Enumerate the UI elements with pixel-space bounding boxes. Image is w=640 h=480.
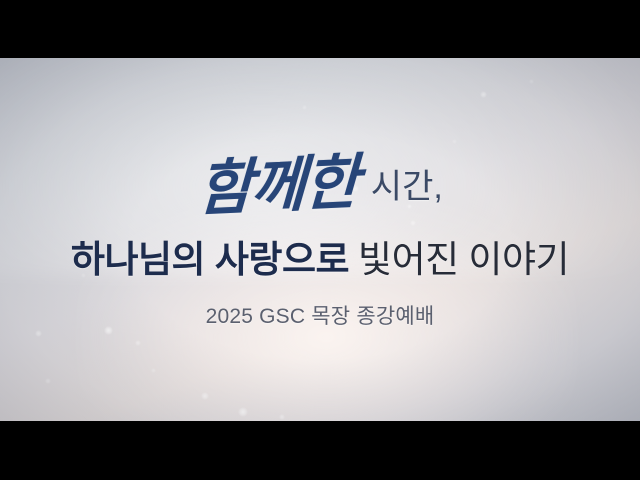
headline-trailing-word: 시간, [371, 170, 443, 204]
letterbox-bar-bottom [0, 421, 640, 480]
video-frame: 함께한시간, 하나님의 사랑으로빛어진 이야기 2025 GSC 목장 종강예배 [0, 0, 640, 480]
title-card-stage: 함께한시간, 하나님의 사랑으로빛어진 이야기 2025 GSC 목장 종강예배 [0, 58, 640, 421]
brush-script-word: 함께한 [197, 152, 359, 219]
letterbox-bar-top [0, 0, 640, 58]
title-text-block: 함께한시간, 하나님의 사랑으로빛어진 이야기 2025 GSC 목장 종강예배 [0, 58, 640, 421]
subtitle-text: 2025 GSC 목장 종강예배 [0, 300, 640, 330]
headline-line-1: 함께한시간, [0, 156, 640, 216]
headline-line-2: 하나님의 사랑으로빛어진 이야기 [0, 239, 640, 282]
headline-emphasis-phrase: 하나님의 사랑으로 [71, 239, 349, 280]
headline-tail-phrase: 빛어진 이야기 [358, 239, 569, 280]
